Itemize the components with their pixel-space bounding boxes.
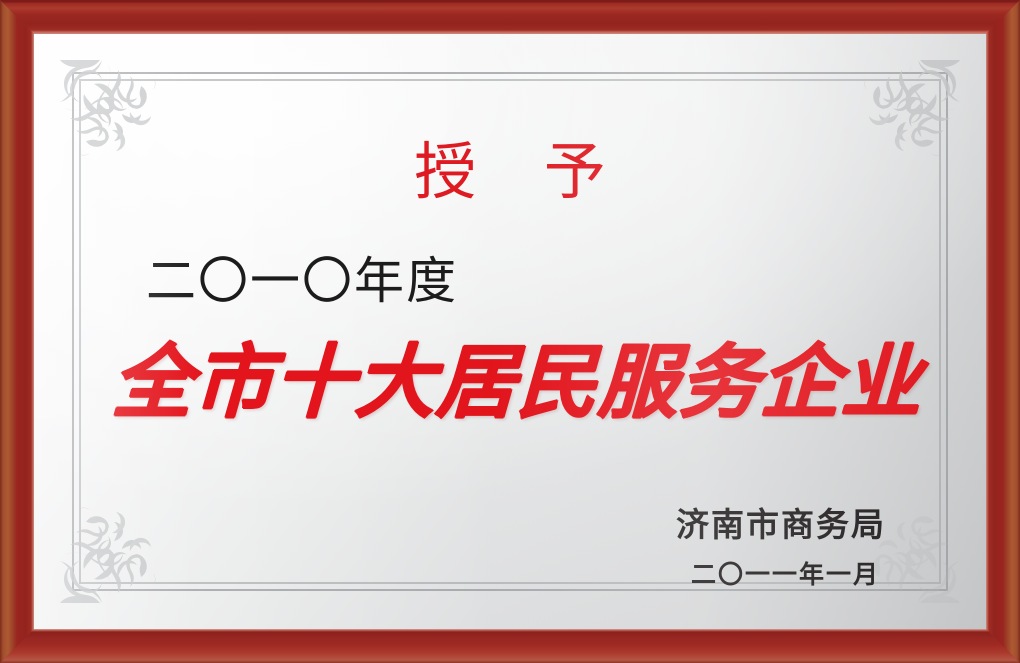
award-verb: 授 予 [108, 142, 912, 204]
frame-rail-bottom [0, 629, 1020, 663]
award-title: 全市十大居民服务企业 [111, 344, 910, 424]
frame-rail-top [0, 0, 1020, 34]
award-year: 二〇一〇年度 [146, 256, 458, 306]
frame-rail-left [0, 0, 34, 663]
award-plaque: 授 予 二〇一〇年度 全市十大居民服务企业 济南市商务局 二〇一一年一月 [0, 0, 1020, 663]
issue-date: 二〇一一年一月 [691, 562, 880, 587]
metal-plate: 授 予 二〇一〇年度 全市十大居民服务企业 济南市商务局 二〇一一年一月 [34, 34, 986, 629]
plaque-text-block: 授 予 二〇一〇年度 全市十大居民服务企业 济南市商务局 二〇一一年一月 [108, 86, 912, 577]
issuing-authority: 济南市商务局 [676, 508, 886, 541]
frame-rail-right [986, 0, 1020, 663]
